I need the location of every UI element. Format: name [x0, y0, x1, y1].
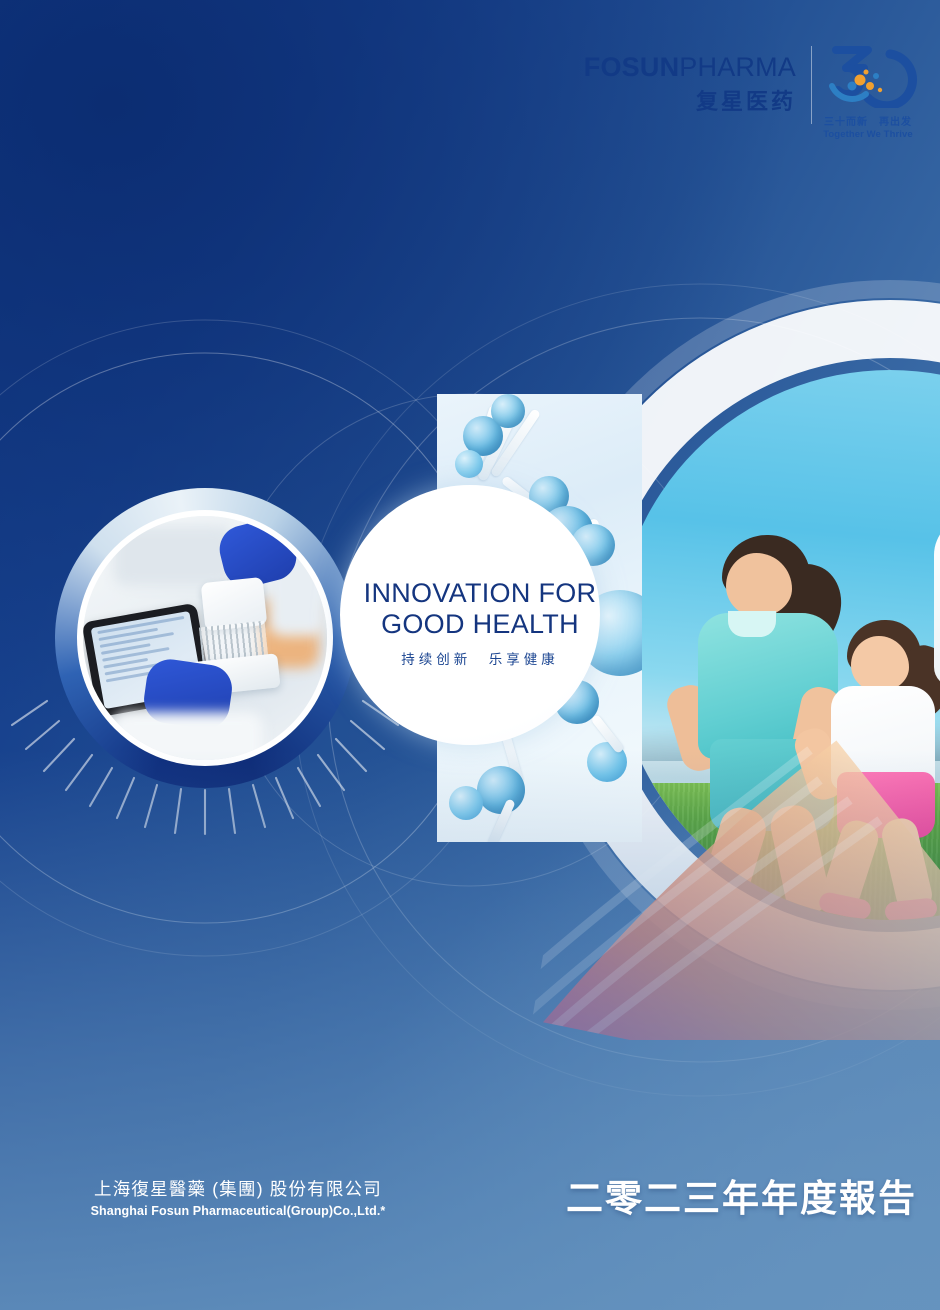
company-name-block: 上海復星醫藥 (集團) 股份有限公司 Shanghai Fosun Pharma… [88, 1176, 388, 1218]
emblem-slogan-cn: 三十而新 再出发 [816, 113, 920, 128]
lab-photo [83, 516, 327, 760]
anniversary-emblem: 三十而新 再出发 Together We Thrive [816, 42, 920, 140]
logo-chinese: 复星医药 [584, 84, 796, 116]
anniversary-30-icon [816, 42, 920, 108]
company-name-chinese: 上海復星醫藥 (集團) 股份有限公司 [88, 1176, 388, 1201]
fosun-pharma-logo: FOSUNPHARMA 复星医药 [584, 52, 796, 116]
company-name-english: Shanghai Fosun Pharmaceutical(Group)Co.,… [88, 1204, 388, 1218]
tagline-line-1: INNOVATION FOR [364, 578, 597, 608]
emblem-slogan-en: Together We Thrive [816, 129, 920, 140]
tagline: INNOVATION FOR GOOD HEALTH 持续创新 乐享健康 [300, 578, 660, 668]
logo-fosun: FOSUN [584, 52, 680, 82]
tagline-line-2: GOOD HEALTH [300, 609, 660, 640]
annual-report-cover: INNOVATION FOR GOOD HEALTH 持续创新 乐享健康 FOS… [0, 0, 940, 1310]
report-title: 二零二三年年度報告 [566, 1168, 917, 1222]
logo-divider [811, 46, 812, 124]
bottom-tint [0, 750, 940, 1310]
tagline-chinese: 持续创新 乐享健康 [300, 648, 660, 668]
logo-pharma: PHARMA [679, 52, 796, 82]
